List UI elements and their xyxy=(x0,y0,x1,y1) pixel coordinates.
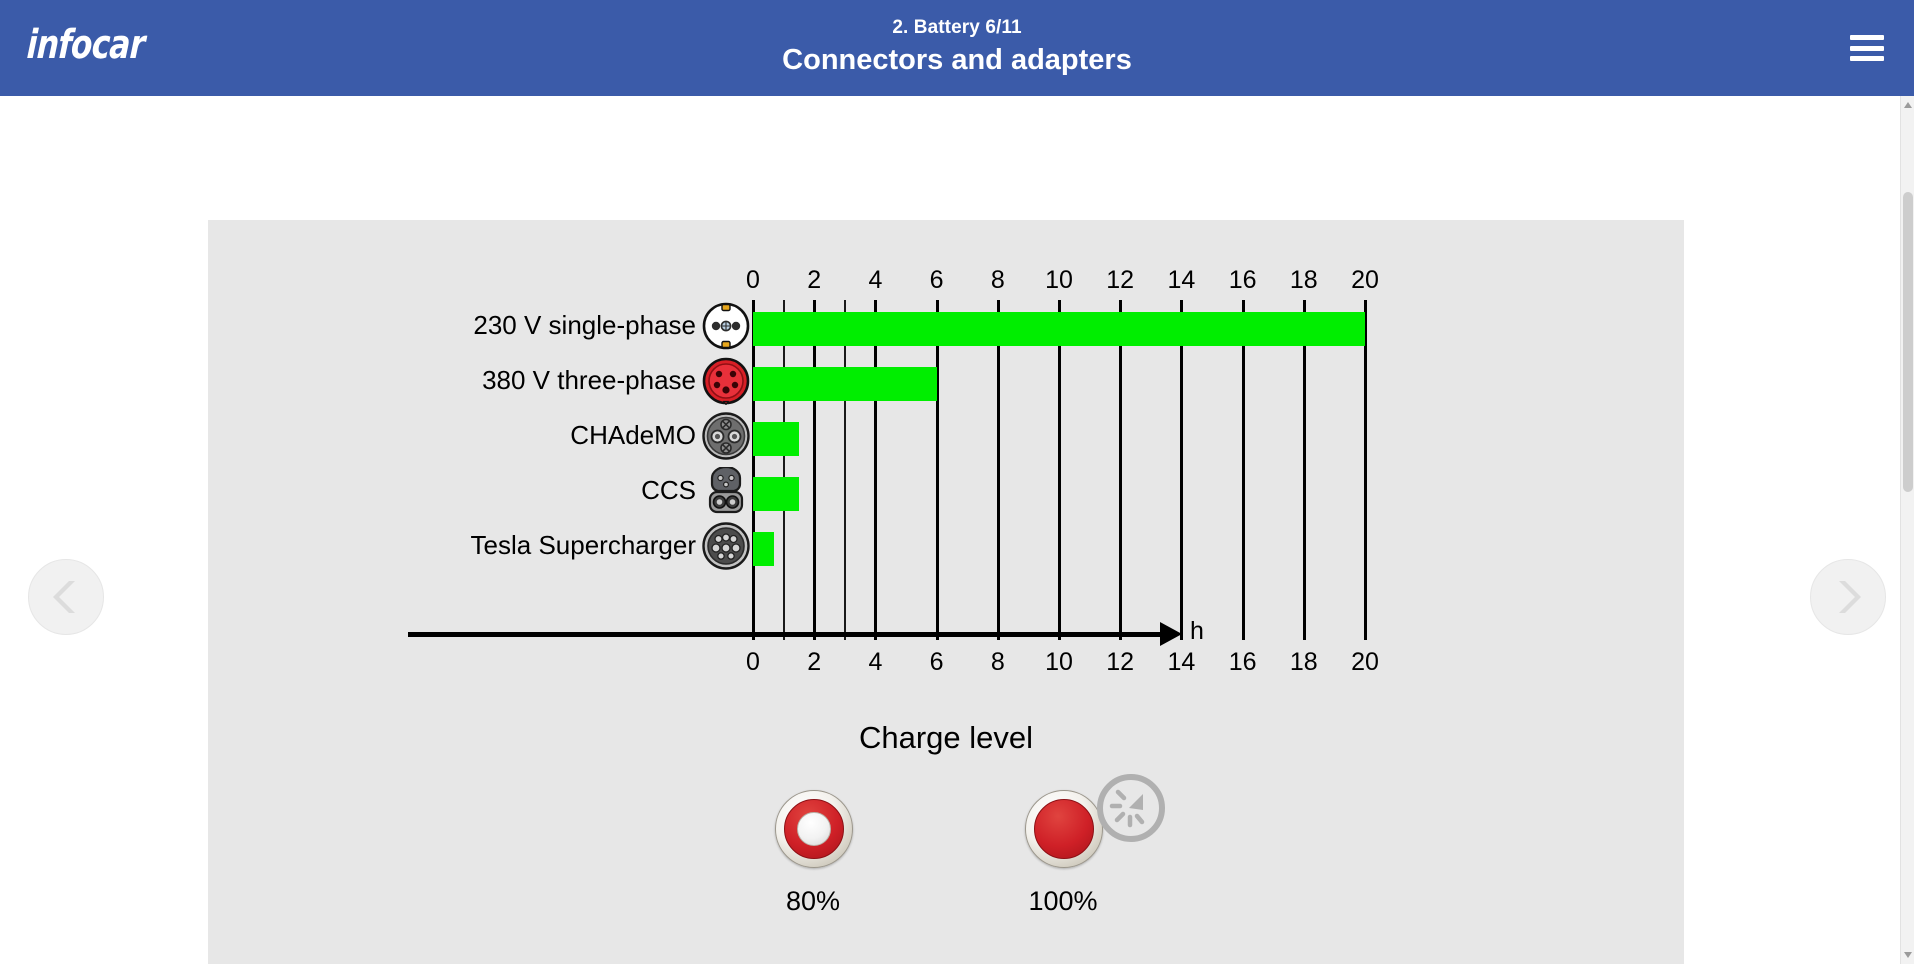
chart-bar xyxy=(753,367,937,401)
chart-bar xyxy=(753,312,1365,346)
charge-level-title: Charge level xyxy=(208,720,1684,756)
chart-category-label: CHAdeMO xyxy=(570,420,696,451)
prev-slide-button[interactable] xyxy=(28,559,104,635)
x-tick-label-6: 6 xyxy=(930,648,944,677)
header-subtitle: 2. Battery 6/11 xyxy=(782,18,1132,39)
x-tick-label-10: 10 xyxy=(1045,648,1073,677)
vertical-scrollbar[interactable] xyxy=(1900,96,1914,964)
radio-hole xyxy=(797,812,831,846)
charge-level-radio[interactable] xyxy=(775,790,853,868)
next-slide-button[interactable] xyxy=(1810,559,1886,635)
hamburger-menu-icon[interactable] xyxy=(1850,35,1884,61)
x-axis-ticks-top: 02468101214161820 xyxy=(753,266,1393,296)
content-area: 02468101214161820 230 V single-phase 380… xyxy=(0,96,1914,964)
scroll-up-icon[interactable] xyxy=(1904,102,1912,108)
chart-category-label: 380 V three-phase xyxy=(482,365,696,396)
x-tick-label-18: 18 xyxy=(1290,266,1318,295)
infocar-logo[interactable]: infocar xyxy=(26,22,146,68)
x-tick-label-12: 12 xyxy=(1106,266,1134,295)
chademo-connector-icon xyxy=(702,412,750,460)
x-tick-label-18: 18 xyxy=(1290,648,1318,677)
chart-bars xyxy=(753,300,1453,640)
chart-category-label: 230 V single-phase xyxy=(473,310,696,341)
radio-fill xyxy=(1034,799,1094,859)
chart-category-label: CCS xyxy=(641,475,696,506)
ccs-connector-icon xyxy=(702,467,750,515)
x-tick-label-20: 20 xyxy=(1351,266,1379,295)
charging-time-chart: 02468101214161820 230 V single-phase 380… xyxy=(208,220,1684,780)
charge-level-radio[interactable] xyxy=(1025,790,1103,868)
x-tick-label-20: 20 xyxy=(1351,648,1379,677)
chevron-left-icon xyxy=(49,577,83,617)
x-axis-arrowhead xyxy=(1160,622,1182,646)
x-axis-ticks-bottom: 02468101214161820 xyxy=(753,648,1393,678)
scrollbar-thumb[interactable] xyxy=(1903,192,1913,492)
chart-bar xyxy=(753,532,774,566)
x-tick-label-0: 0 xyxy=(746,266,760,295)
x-axis-unit-label: h xyxy=(1190,617,1204,646)
x-tick-label-4: 4 xyxy=(868,266,882,295)
slide-panel: 02468101214161820 230 V single-phase 380… xyxy=(208,220,1684,964)
charge-level-options: 80%100% xyxy=(753,790,1253,940)
menu-bar-3 xyxy=(1850,56,1884,61)
tesla-supercharger-connector-icon xyxy=(702,522,750,570)
x-tick-label-6: 6 xyxy=(930,266,944,295)
x-tick-label-14: 14 xyxy=(1167,266,1195,295)
x-tick-label-2: 2 xyxy=(807,266,821,295)
x-tick-label-14: 14 xyxy=(1167,648,1195,677)
scroll-down-icon[interactable] xyxy=(1904,952,1912,958)
schuko-socket-icon xyxy=(702,302,750,350)
radio-fill xyxy=(784,799,844,859)
charge-level-percent-label: 100% xyxy=(1003,886,1123,917)
red-three-phase-plug-icon xyxy=(702,357,750,405)
app-header: infocar 2. Battery 6/11 Connectors and a… xyxy=(0,0,1914,96)
x-tick-label-10: 10 xyxy=(1045,266,1073,295)
chart-row-labels: 230 V single-phase 380 V three-phase CHA… xyxy=(208,300,753,640)
menu-bar-1 xyxy=(1850,35,1884,40)
page-title: Connectors and adapters xyxy=(782,45,1132,76)
x-tick-label-2: 2 xyxy=(807,648,821,677)
x-tick-label-8: 8 xyxy=(991,648,1005,677)
chevron-right-icon xyxy=(1831,577,1865,617)
chart-category-label: Tesla Supercharger xyxy=(471,530,696,561)
chart-bar xyxy=(753,422,799,456)
x-tick-label-12: 12 xyxy=(1106,648,1134,677)
header-center: 2. Battery 6/11 Connectors and adapters xyxy=(782,18,1132,76)
chart-bar xyxy=(753,477,799,511)
x-tick-label-4: 4 xyxy=(868,648,882,677)
x-axis-line xyxy=(408,632,1166,637)
charge-level-percent-label: 80% xyxy=(753,886,873,917)
x-tick-label-0: 0 xyxy=(746,648,760,677)
x-tick-label-8: 8 xyxy=(991,266,1005,295)
x-tick-label-16: 16 xyxy=(1229,266,1257,295)
menu-bar-2 xyxy=(1850,46,1884,51)
charge-burst-icon[interactable] xyxy=(1093,770,1169,846)
x-tick-label-16: 16 xyxy=(1229,648,1257,677)
